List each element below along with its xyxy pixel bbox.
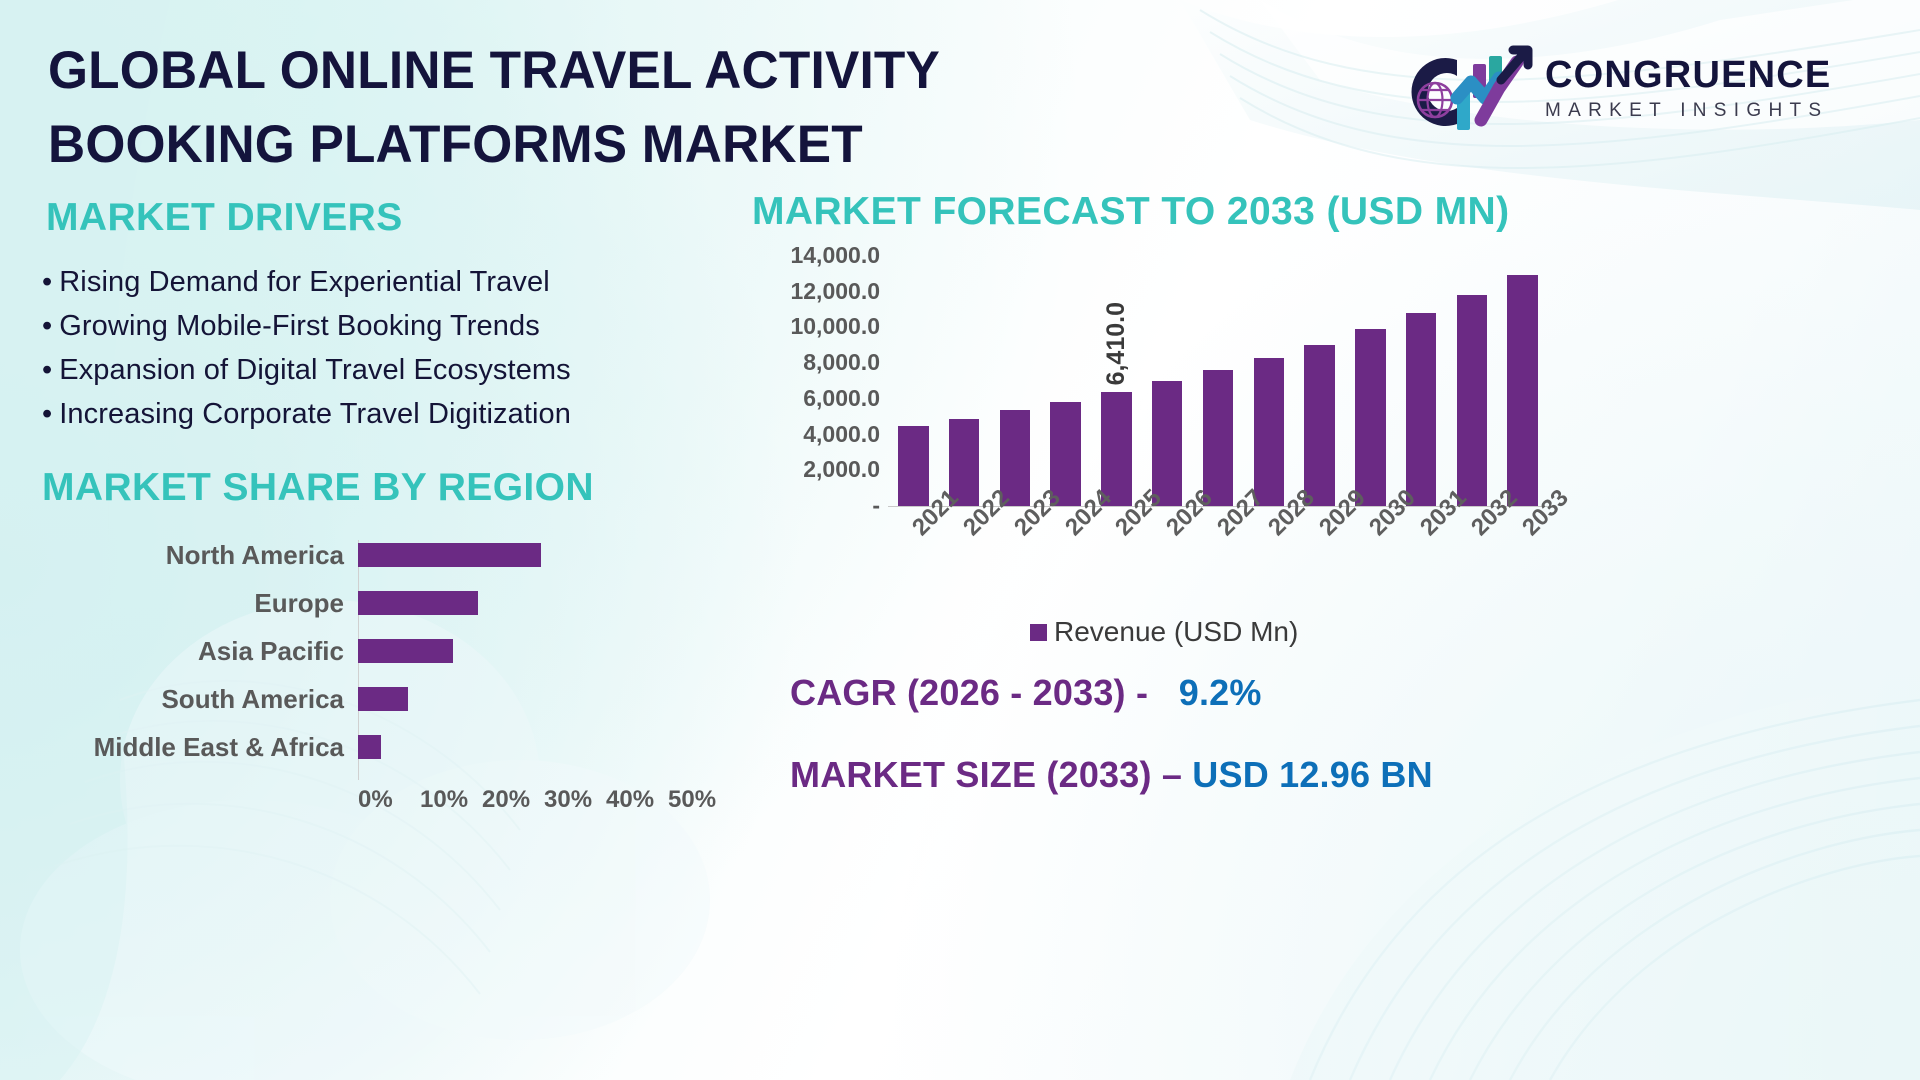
region-bar-label: Middle East & Africa [42, 732, 352, 763]
brand-logo: CONGRUENCE MARKET INSIGHTS [1395, 42, 1875, 142]
region-bar-chart: North AmericaEuropeAsia PacificSouth Ame… [42, 534, 702, 834]
region-x-tick: 10% [420, 786, 468, 814]
region-x-tick: 40% [606, 786, 654, 814]
market-forecast-heading: MARKET FORECAST TO 2033 (USD MN) [752, 190, 1882, 234]
forecast-y-tick: 6,000.0 [803, 387, 880, 409]
forecast-legend: Revenue (USD Mn) [1030, 616, 1298, 648]
region-bar [358, 687, 408, 711]
list-item-label: Increasing Corporate Travel Digitization [59, 398, 571, 430]
forecast-y-tick: 10,000.0 [790, 315, 880, 337]
list-item-label: Rising Demand for Experiential Travel [59, 266, 549, 298]
forecast-y-tick: 8,000.0 [803, 351, 880, 373]
forecast-bar [1406, 313, 1436, 506]
region-bar-row: North America [42, 540, 702, 570]
cagr-label: CAGR (2026 - 2033) - [790, 672, 1148, 713]
list-item: •Expansion of Digital Travel Ecosystems [42, 348, 571, 392]
forecast-bar [1050, 402, 1080, 506]
forecast-bar-data-label: 6,410.0 [1102, 302, 1131, 385]
forecast-y-tick: - [872, 494, 880, 516]
bullet-icon: • [42, 266, 52, 298]
region-bar [358, 639, 453, 663]
forecast-bar [1304, 345, 1334, 506]
market-size-stat: MARKET SIZE (2033) – USD 12.96 BN [790, 754, 1880, 796]
header: GLOBAL ONLINE TRAVEL ACTIVITY BOOKING PL… [0, 0, 1920, 190]
region-x-tick: 50% [668, 786, 716, 814]
forecast-bar [1457, 295, 1487, 506]
cagr-stat: CAGR (2026 - 2033) - 9.2% [790, 672, 1880, 714]
logo-wordmark: CONGRUENCE MARKET INSIGHTS [1545, 54, 1831, 124]
page-title-line-1: GLOBAL ONLINE TRAVEL ACTIVITY [48, 34, 1096, 108]
region-bar [358, 543, 541, 567]
forecast-y-tick: 4,000.0 [803, 423, 880, 445]
list-item-label: Growing Mobile-First Booking Trends [59, 310, 540, 342]
forecast-bar [1507, 275, 1537, 506]
forecast-bar [1000, 410, 1030, 506]
forecast-bar [1203, 370, 1233, 506]
region-x-tick: 0% [358, 786, 393, 814]
logo-company-name: CONGRUENCE [1545, 54, 1831, 96]
region-x-tick: 20% [482, 786, 530, 814]
page-title: GLOBAL ONLINE TRAVEL ACTIVITY BOOKING PL… [48, 34, 1096, 182]
region-bar [358, 735, 381, 759]
region-bar-row: Asia Pacific [42, 636, 702, 666]
legend-swatch-icon [1030, 624, 1047, 641]
region-bar-row: Middle East & Africa [42, 732, 702, 762]
list-item: •Growing Mobile-First Booking Trends [42, 304, 571, 348]
region-bar-label: Asia Pacific [42, 636, 352, 667]
market-drivers-section: MARKET DRIVERS •Rising Demand for Experi… [42, 196, 571, 436]
logo-tagline: MARKET INSIGHTS [1545, 98, 1831, 124]
bullet-icon: • [42, 398, 52, 430]
forecast-bar [1152, 381, 1182, 506]
forecast-bar [898, 426, 928, 506]
market-share-by-region-section: MARKET SHARE BY REGION North AmericaEuro… [42, 466, 722, 834]
list-item-label: Expansion of Digital Travel Ecosystems [59, 354, 571, 386]
forecast-bar [1355, 329, 1385, 506]
market-size-label: MARKET SIZE (2033) – [790, 754, 1182, 795]
forecast-bar-chart: -2,000.04,000.06,000.08,000.010,000.012,… [760, 256, 1570, 656]
forecast-bar [1254, 358, 1284, 506]
market-share-heading: MARKET SHARE BY REGION [42, 466, 722, 510]
region-bar [358, 591, 478, 615]
bullet-icon: • [42, 310, 52, 342]
region-bar-row: Europe [42, 588, 702, 618]
forecast-y-tick: 14,000.0 [790, 244, 880, 266]
forecast-y-tick: 2,000.0 [803, 458, 880, 480]
region-x-tick: 30% [544, 786, 592, 814]
forecast-y-axis-labels: -2,000.04,000.06,000.08,000.010,000.012,… [760, 256, 880, 516]
list-item: •Rising Demand for Experiential Travel [42, 260, 571, 304]
key-stats-section: CAGR (2026 - 2033) - 9.2% MARKET SIZE (2… [790, 672, 1880, 796]
forecast-y-tick: 12,000.0 [790, 280, 880, 302]
legend-label: Revenue (USD Mn) [1054, 616, 1298, 648]
forecast-plot-area: 6,410.0 [888, 256, 1548, 506]
forecast-bar [1101, 392, 1131, 506]
page-title-line-2: BOOKING PLATFORMS MARKET [48, 108, 1096, 182]
forecast-x-axis-labels: 2021202220232024202520262027202820292030… [888, 512, 1556, 602]
region-bar-label: Europe [42, 588, 352, 619]
region-bar-row: South America [42, 684, 702, 714]
market-forecast-section: MARKET FORECAST TO 2033 (USD MN) -2,000.… [752, 190, 1882, 656]
market-size-value: USD 12.96 BN [1192, 754, 1433, 795]
market-drivers-list: •Rising Demand for Experiential Travel •… [42, 260, 571, 436]
cagr-value: 9.2% [1179, 672, 1262, 713]
logo-mark-icon [1395, 42, 1533, 142]
bullet-icon: • [42, 354, 52, 386]
market-drivers-heading: MARKET DRIVERS [46, 196, 571, 240]
region-bar-label: South America [42, 684, 352, 715]
region-bar-label: North America [42, 540, 352, 571]
list-item: •Increasing Corporate Travel Digitizatio… [42, 392, 571, 436]
